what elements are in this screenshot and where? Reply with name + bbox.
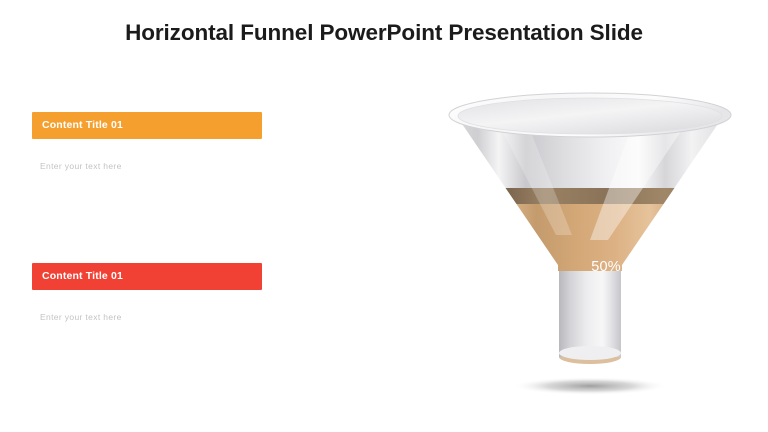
content-body-text-2[interactable]: Enter your text here — [32, 313, 268, 322]
content-title-bar-1[interactable]: Content Title 01 — [32, 112, 262, 139]
content-title-label-1: Content Title 01 — [42, 120, 123, 131]
content-item-2: Content Title 01 Enter your text here — [32, 263, 268, 322]
page-title: Horizontal Funnel PowerPoint Presentatio… — [0, 20, 768, 46]
content-title-bar-2[interactable]: Content Title 01 — [32, 263, 262, 290]
funnel-stem — [559, 267, 621, 364]
content-column: Content Title 01 Enter your text here Co… — [32, 112, 268, 321]
content-body-text-1[interactable]: Enter your text here — [32, 162, 268, 171]
content-title-label-2: Content Title 01 — [42, 271, 123, 282]
presentation-slide: Horizontal Funnel PowerPoint Presentatio… — [0, 0, 768, 432]
content-item-1: Content Title 01 Enter your text here — [32, 112, 268, 171]
funnel-shadow — [512, 377, 668, 395]
funnel-graphic[interactable]: 50% — [440, 85, 740, 405]
funnel-illustration — [440, 85, 740, 405]
funnel-rim — [449, 93, 731, 137]
